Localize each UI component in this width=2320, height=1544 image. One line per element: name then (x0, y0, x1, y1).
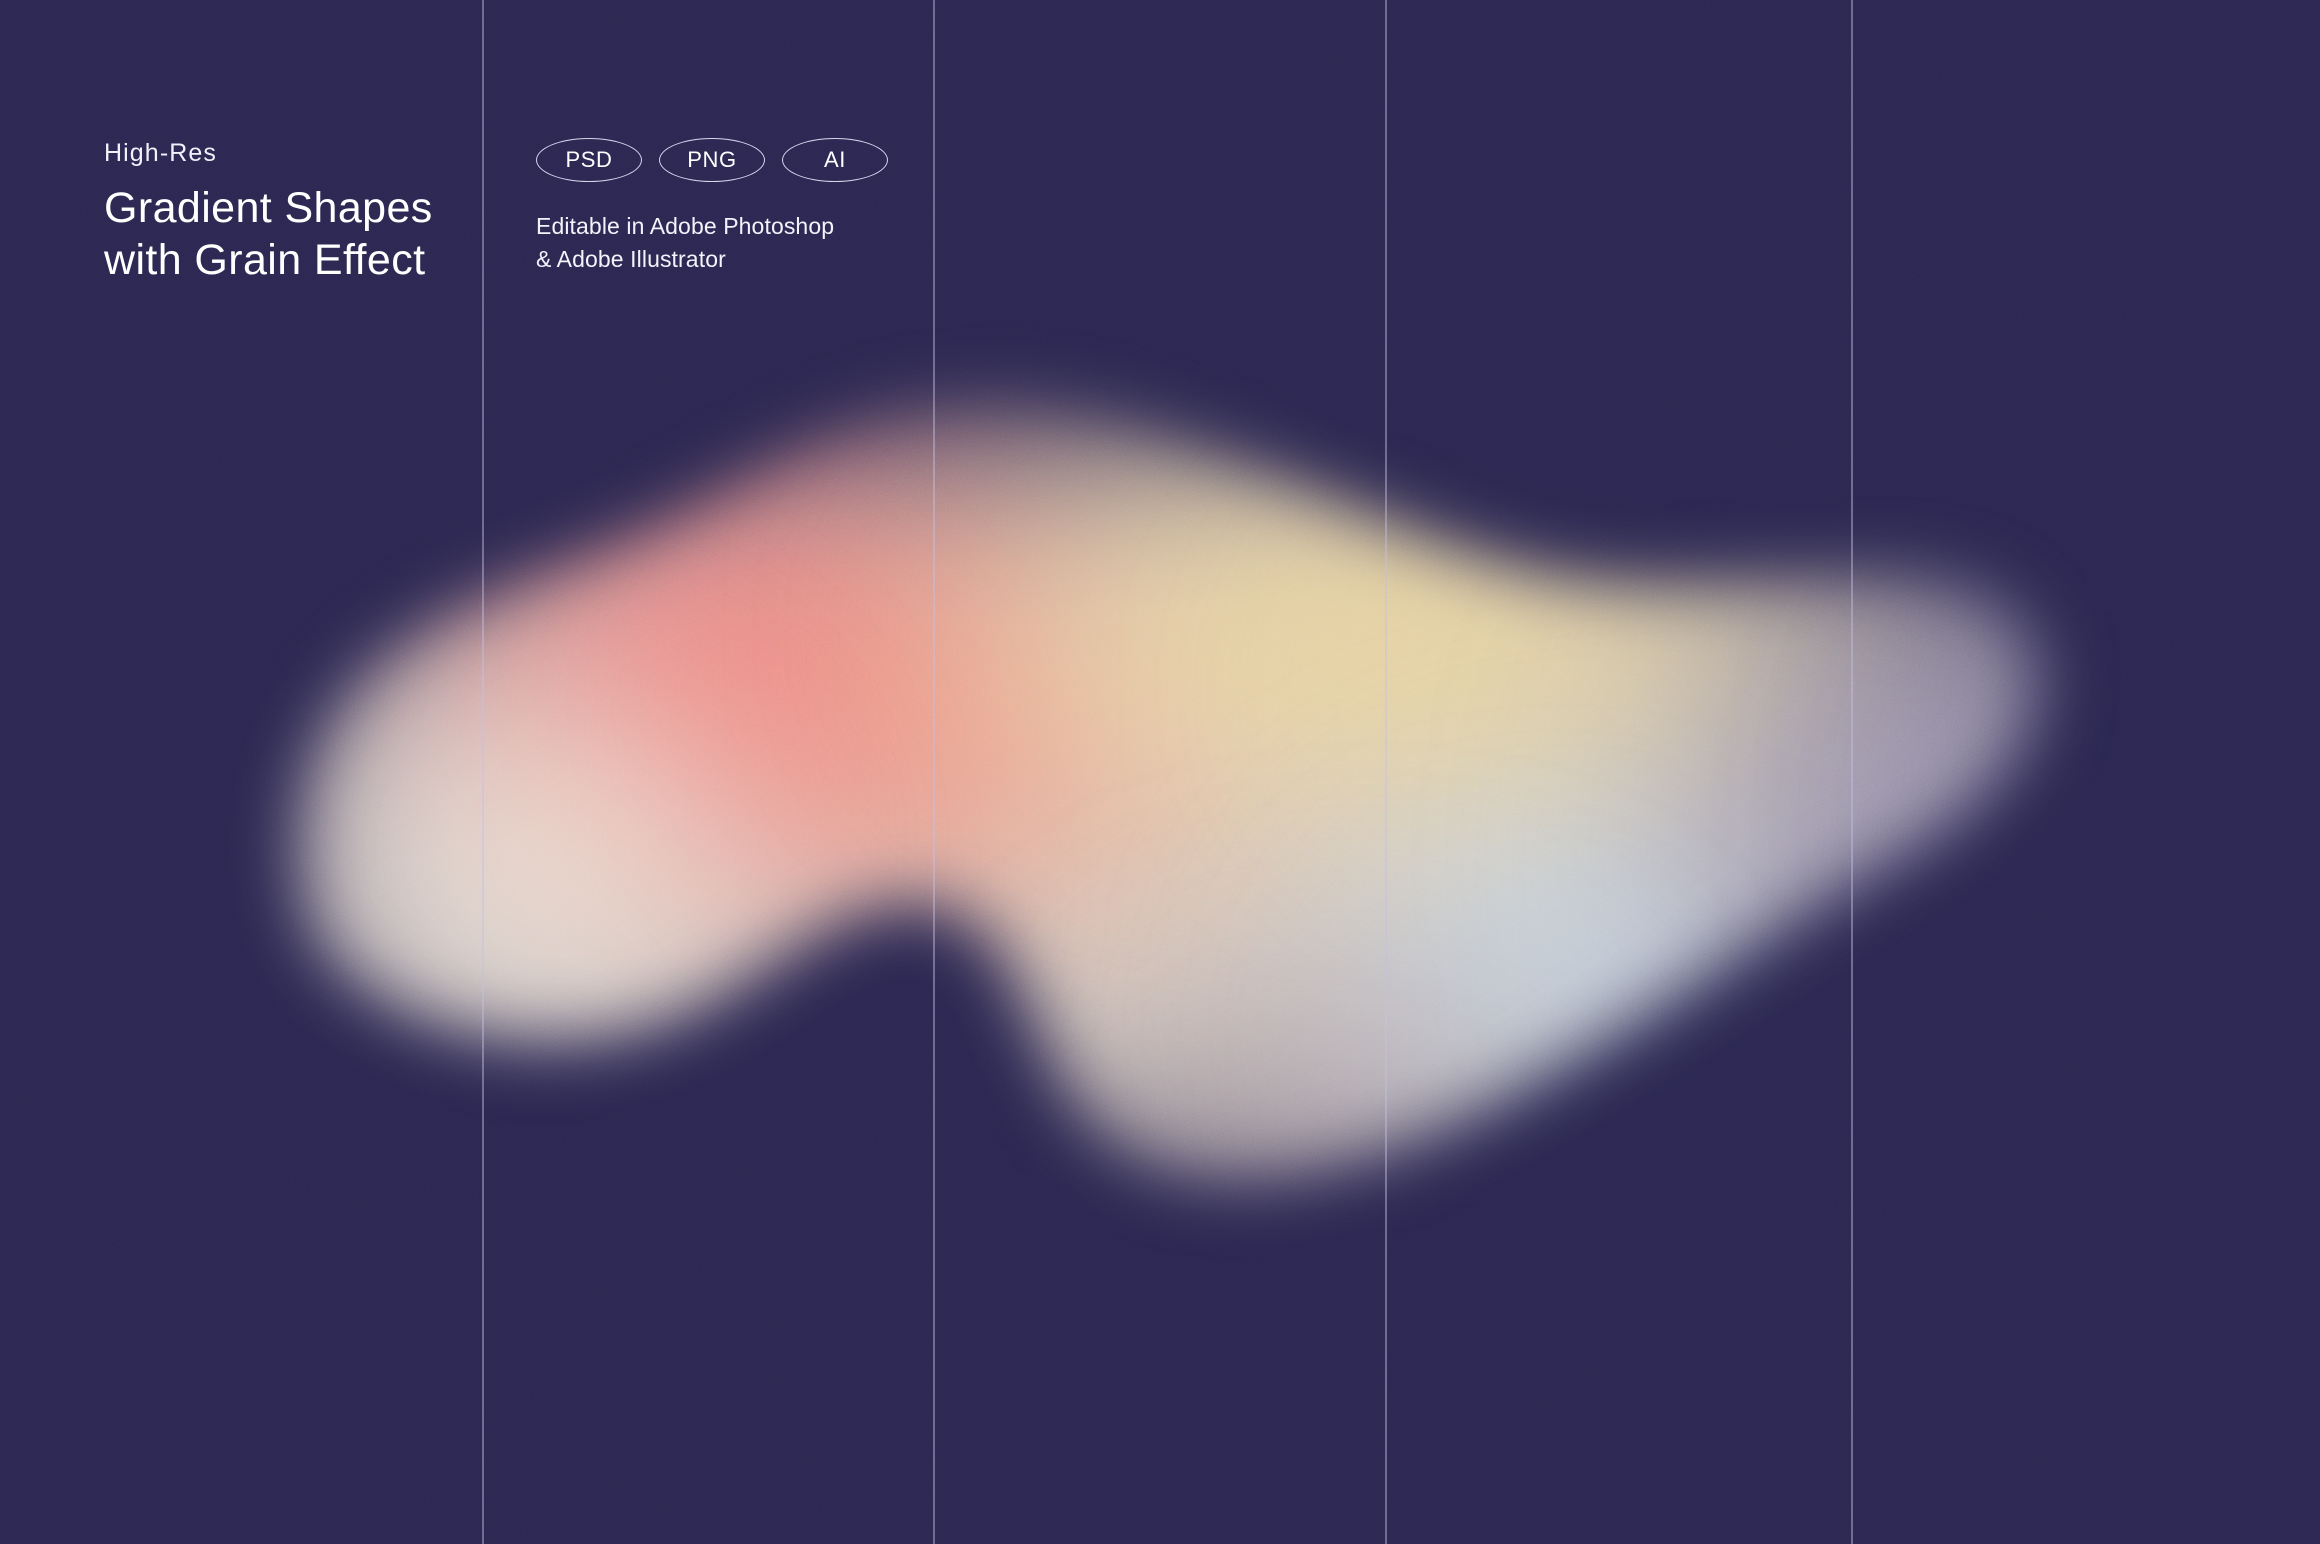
format-badge-ai[interactable]: AI (782, 138, 888, 182)
format-badge-row: PSD PNG AI (536, 138, 956, 182)
eyebrow-label: High-Res (104, 138, 484, 168)
formats-block: PSD PNG AI Editable in Adobe Photoshop &… (536, 138, 956, 275)
headline-line-2: with Grain Effect (104, 234, 484, 286)
format-badge-psd[interactable]: PSD (536, 138, 642, 182)
title-block: High-Res Gradient Shapes with Grain Effe… (104, 138, 484, 287)
poster-canvas: High-Res Gradient Shapes with Grain Effe… (0, 0, 2320, 1544)
editable-line-2: & Adobe Illustrator (536, 243, 956, 276)
headline-line-1: Gradient Shapes (104, 182, 484, 234)
format-badge-png[interactable]: PNG (659, 138, 765, 182)
editable-line-1: Editable in Adobe Photoshop (536, 210, 956, 243)
